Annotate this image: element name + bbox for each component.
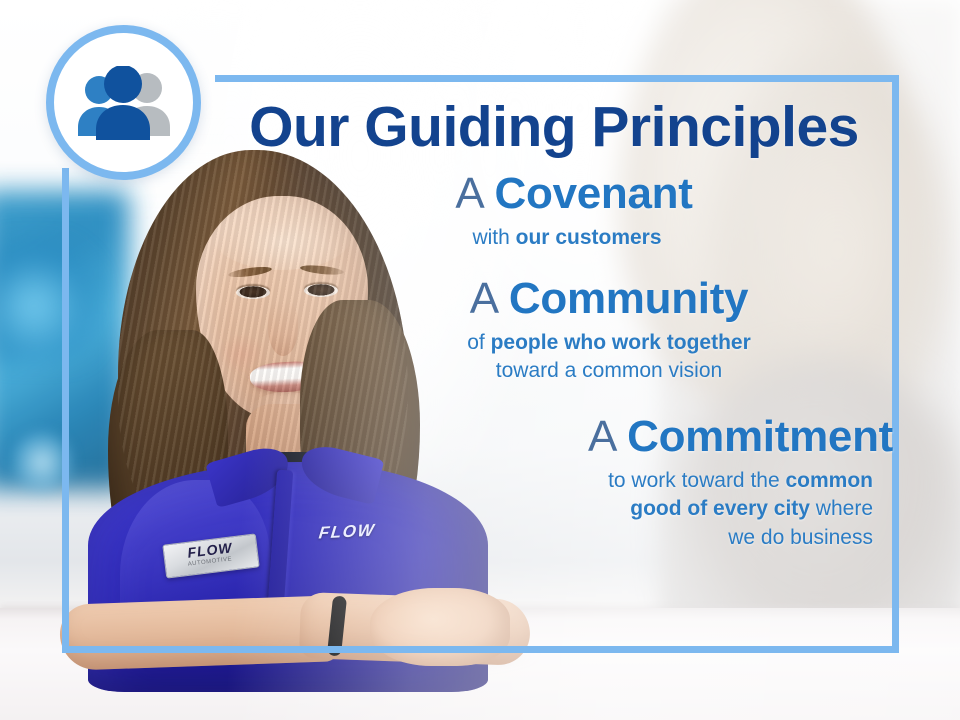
description-line: of people who work together [325, 329, 893, 357]
plain-text: to work toward the [608, 469, 785, 492]
emphasis-text: good of every city [630, 497, 810, 520]
text-content: Our Guiding Principles A Covenantwith ou… [215, 82, 893, 552]
plain-text: toward a common vision [496, 359, 722, 382]
people-group-icon [71, 66, 177, 140]
description-line: with our customers [255, 224, 879, 252]
principle-article: A [470, 274, 509, 323]
principle-3: A Commitmentto work toward the commongoo… [215, 415, 893, 553]
clasped-hands [370, 588, 510, 666]
principle-keyword: Commitment [627, 412, 893, 461]
plain-text: we do business [728, 526, 873, 549]
principle-article: A [588, 412, 627, 461]
guiding-principles-poster: FLOW FLOW AUTOMOTIVE Our Guiding Princip… [0, 0, 960, 720]
description-line: toward a common vision [325, 357, 893, 385]
plain-text: with [472, 226, 515, 249]
display-vehicle-image [0, 240, 100, 360]
principle-2: A Communityof people who work togetherto… [215, 277, 893, 384]
description-line: we do business [445, 524, 873, 553]
principle-3-heading: A Commitment [445, 415, 893, 460]
principle-article: A [455, 169, 494, 218]
page-title: Our Guiding Principles [215, 82, 893, 158]
principle-keyword: Covenant [495, 169, 693, 218]
plain-text: where [810, 497, 873, 520]
principle-2-heading: A Community [325, 277, 893, 322]
plain-text: of [467, 331, 490, 354]
principle-1-heading: A Covenant [255, 172, 893, 217]
principle-3-description: to work toward the commongood of every c… [445, 467, 893, 553]
principle-2-description: of people who work togethertoward a comm… [325, 329, 893, 384]
associate-left-arm [59, 595, 341, 671]
emphasis-text: our customers [516, 226, 662, 249]
description-line: good of every city where [445, 495, 873, 524]
people-badge [46, 25, 201, 180]
emphasis-text: common [785, 469, 873, 492]
display-logo [10, 430, 74, 494]
principles-list: A Covenantwith our customersA Communityo… [215, 172, 893, 552]
emphasis-text: people who work together [491, 331, 751, 354]
principle-1-description: with our customers [255, 224, 893, 252]
principle-1: A Covenantwith our customers [215, 172, 893, 252]
principle-keyword: Community [509, 274, 748, 323]
description-line: to work toward the common [445, 467, 873, 496]
